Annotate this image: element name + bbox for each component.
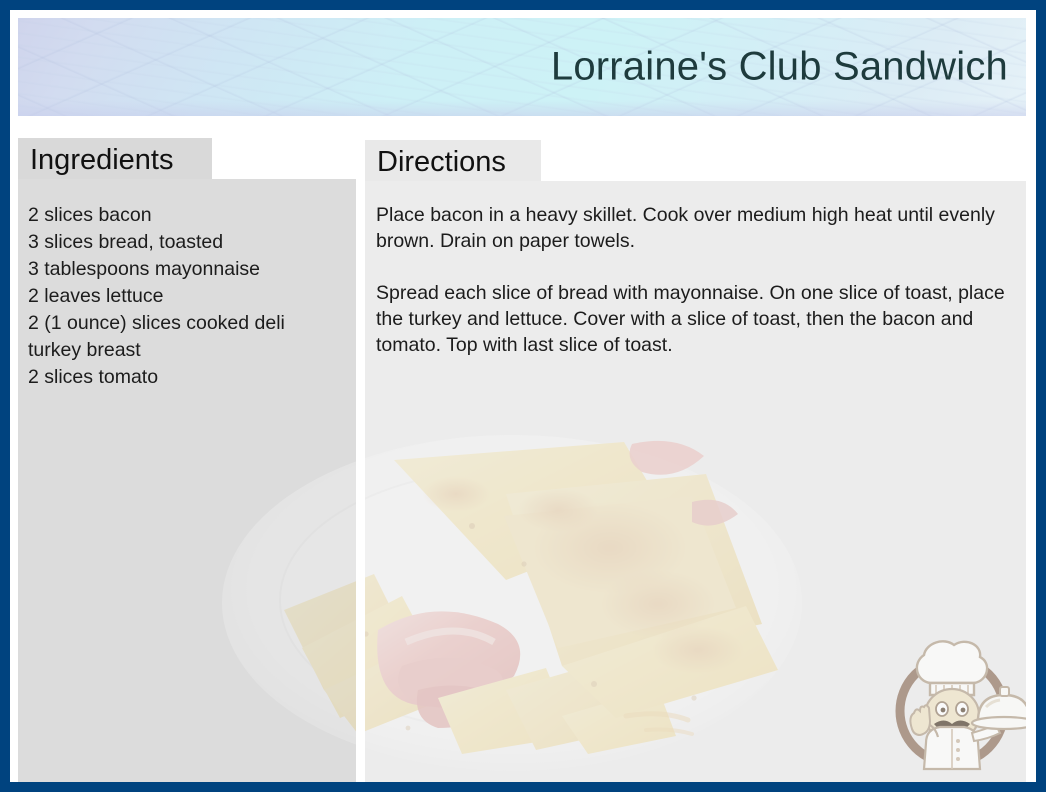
list-item: 3 slices bread, toasted bbox=[28, 229, 340, 256]
directions-body: Place bacon in a heavy skillet. Cook ove… bbox=[376, 202, 1024, 358]
recipe-card: Lorraine's Club Sandwich bbox=[0, 0, 1046, 792]
section-heading-ingredients: Ingredients bbox=[18, 138, 212, 179]
title-banner: Lorraine's Club Sandwich bbox=[18, 18, 1026, 116]
page-title: Lorraine's Club Sandwich bbox=[551, 45, 1008, 90]
list-item: 3 tablespoons mayonnaise bbox=[28, 256, 340, 283]
direction-step: Spread each slice of bread with mayonnai… bbox=[376, 280, 1024, 358]
section-heading-directions: Directions bbox=[365, 140, 541, 181]
ingredients-tab-notch bbox=[212, 138, 356, 179]
list-item: 2 (1 ounce) slices cooked deli turkey br… bbox=[28, 310, 340, 364]
list-item: 2 leaves lettuce bbox=[28, 283, 340, 310]
list-item: 2 slices tomato bbox=[28, 364, 340, 391]
ingredients-list: 2 slices bacon 3 slices bread, toasted 3… bbox=[28, 202, 340, 391]
list-item: 2 slices bacon bbox=[28, 202, 340, 229]
directions-tab-notch bbox=[541, 140, 1027, 181]
page-surface: Lorraine's Club Sandwich bbox=[10, 10, 1036, 782]
panel-divider bbox=[356, 138, 365, 782]
direction-step: Place bacon in a heavy skillet. Cook ove… bbox=[376, 202, 1024, 254]
